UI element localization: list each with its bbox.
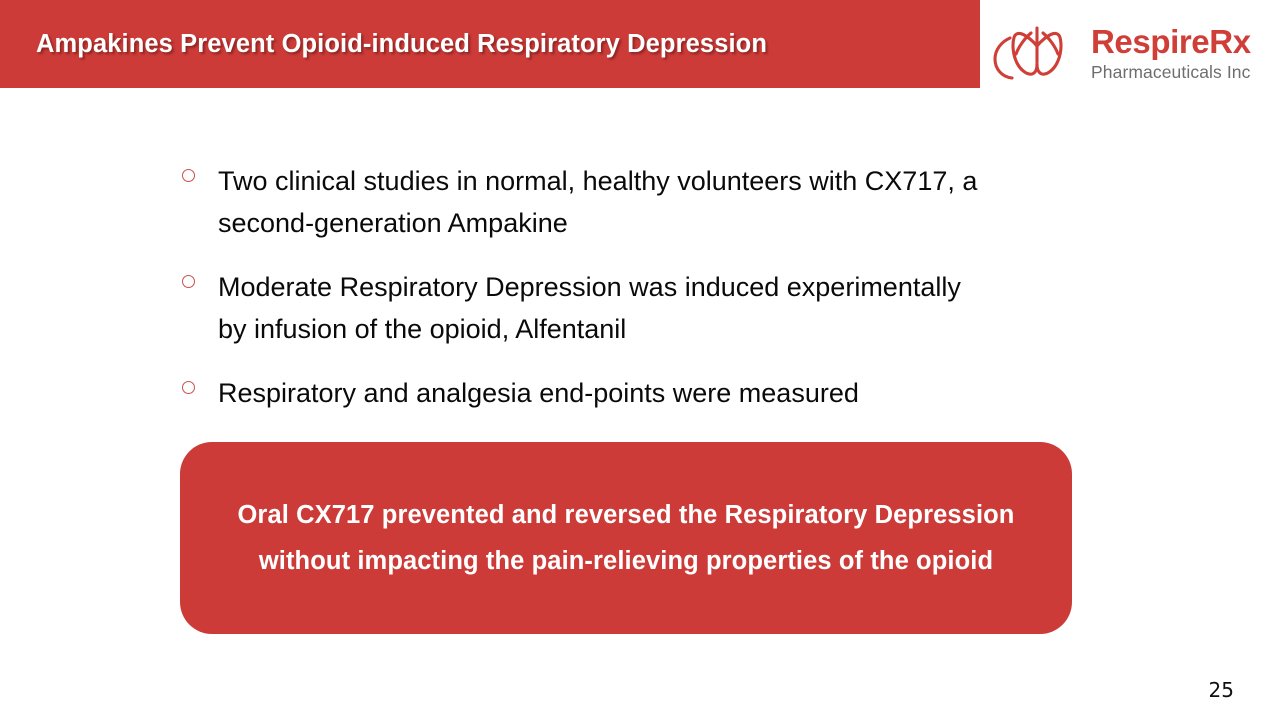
logo-text-block: RespireRx Pharmaceuticals Inc	[1091, 25, 1251, 82]
list-item: Two clinical studies in normal, healthy …	[182, 160, 1022, 244]
title-banner: Ampakines Prevent Opioid-induced Respira…	[0, 0, 980, 88]
conclusion-callout-text: Oral CX717 prevented and reversed the Re…	[214, 492, 1038, 584]
list-item-text: Moderate Respiratory Depression was indu…	[218, 266, 993, 350]
bullet-circle-icon	[182, 381, 195, 394]
bullet-circle-icon	[182, 275, 195, 288]
company-logo: RespireRx Pharmaceuticals Inc	[985, 14, 1280, 90]
bullet-circle-icon	[182, 169, 195, 182]
list-item: Respiratory and analgesia end-points wer…	[182, 372, 1022, 414]
page-number: 25	[1209, 678, 1234, 702]
logo-wordmark: RespireRx	[1091, 25, 1251, 58]
list-item: Moderate Respiratory Depression was indu…	[182, 266, 1022, 350]
list-item-text: Two clinical studies in normal, healthy …	[218, 160, 993, 244]
logo-subtitle: Pharmaceuticals Inc	[1091, 64, 1251, 82]
lungs-icon	[985, 22, 1089, 86]
page-title: Ampakines Prevent Opioid-induced Respira…	[36, 30, 767, 59]
conclusion-callout: Oral CX717 prevented and reversed the Re…	[180, 442, 1072, 634]
list-item-text: Respiratory and analgesia end-points wer…	[218, 372, 859, 414]
bullet-list: Two clinical studies in normal, healthy …	[182, 160, 1022, 436]
